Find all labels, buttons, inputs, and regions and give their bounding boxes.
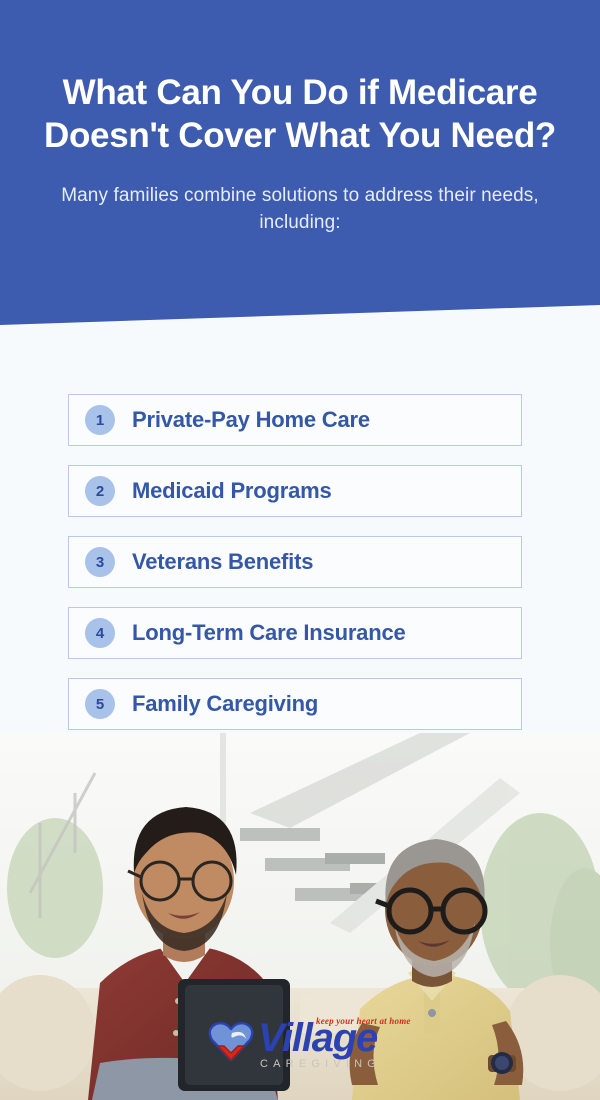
list-item[interactable]: 3 Veterans Benefits [68,536,522,588]
logo-tagline: keep your heart at home [316,1016,411,1026]
list-item-number: 4 [85,618,115,648]
list-item-number: 3 [85,547,115,577]
page-subtitle: Many families combine solutions to addre… [40,183,560,235]
village-caregiving-logo[interactable]: Village keep your heart at home CAREGIVI… [208,1014,398,1072]
list-item-number: 2 [85,476,115,506]
heart-icon [208,1020,254,1062]
list-item[interactable]: 5 Family Caregiving [68,678,522,730]
list-item-label: Family Caregiving [132,691,318,717]
list-item-label: Long-Term Care Insurance [132,620,406,646]
list-item-number: 1 [85,405,115,435]
list-item-label: Veterans Benefits [132,549,313,575]
infographic-page: What Can You Do if Medicare Doesn't Cove… [0,0,600,1100]
logo-subtext: CAREGIVING [260,1058,381,1070]
solutions-list: 1 Private-Pay Home Care 2 Medicaid Progr… [68,394,522,749]
list-item[interactable]: 4 Long-Term Care Insurance [68,607,522,659]
list-item[interactable]: 1 Private-Pay Home Care [68,394,522,446]
list-item-label: Private-Pay Home Care [132,407,370,433]
list-item-number: 5 [85,689,115,719]
header-banner: What Can You Do if Medicare Doesn't Cove… [0,0,600,325]
page-title: What Can You Do if Medicare Doesn't Cove… [40,72,560,157]
list-item[interactable]: 2 Medicaid Programs [68,465,522,517]
header-content: What Can You Do if Medicare Doesn't Cove… [0,0,600,236]
list-item-label: Medicaid Programs [132,478,332,504]
